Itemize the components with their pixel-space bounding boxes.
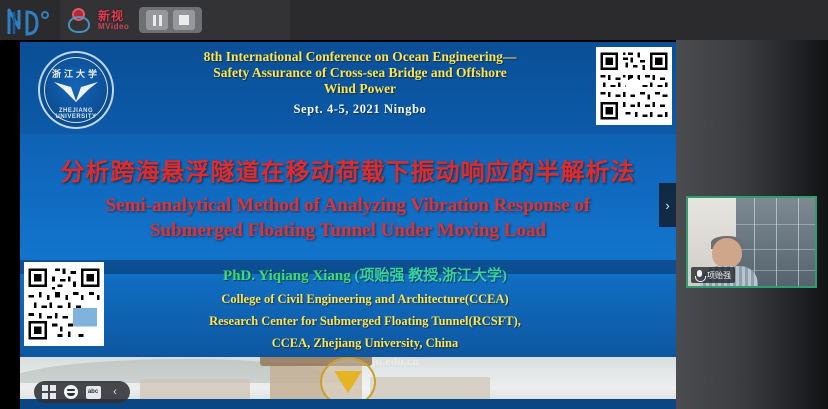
- recording-status-chinese: 新视: [98, 10, 129, 22]
- conference-date: Sept. 4-5, 2021 Ningbo: [130, 102, 590, 117]
- video-rail: 项贻强: [676, 0, 828, 409]
- slide-title-english: Semi-analytical Method of Analyzing Vibr…: [20, 193, 676, 243]
- grid-view-icon: [42, 385, 56, 399]
- meeting-screen-share-window: 浙江大学 ZHEJIANG UNIVERSITY 8th Internation…: [0, 0, 828, 409]
- gallery-view-button[interactable]: [40, 384, 58, 400]
- smiley-face-icon: [64, 385, 78, 399]
- mvideo-n-logo-icon: [2, 2, 60, 40]
- floating-toolbar: abc ‹: [34, 381, 130, 403]
- qr-code-icon-top: [596, 47, 672, 125]
- conference-line-2: Safety Assurance of Cross-sea Bridge and…: [130, 65, 590, 81]
- slide-header-band: 浙江大学 ZHEJIANG UNIVERSITY 8th Internation…: [20, 42, 676, 134]
- zhejiang-university-seal-icon: 浙江大学 ZHEJIANG UNIVERSITY: [38, 51, 114, 129]
- conference-title: 8th International Conference on Ocean En…: [130, 49, 590, 117]
- conference-line-1: 8th International Conference on Ocean En…: [130, 49, 590, 65]
- participant-video-tile[interactable]: 项贻强: [686, 196, 817, 288]
- author-name-line: PhD. Yiqiang Xiang (项贻强 教授,浙江大学): [130, 264, 600, 285]
- affiliation-line-2: Research Center for Submerged Floating T…: [130, 313, 600, 329]
- recording-topbar: 新视 MVideo: [0, 0, 828, 40]
- record-swirl: [68, 16, 90, 33]
- affiliation-line-3: CCEA, Zhejiang University, China: [130, 335, 600, 351]
- qr-code-icon-bottom: [24, 262, 104, 346]
- slide-title-english-line-1: Semi-analytical Method of Analyzing Vibr…: [20, 193, 676, 218]
- microphone-icon: [695, 270, 704, 281]
- annotate-button[interactable]: abc: [84, 384, 102, 400]
- author-block: PhD. Yiqiang Xiang (项贻强 教授,浙江大学) College…: [130, 264, 600, 369]
- emblem-triangle: [334, 371, 362, 393]
- participant-name: 项贻强: [707, 270, 731, 281]
- participant-face: [712, 238, 742, 268]
- previous-button[interactable]: ‹: [106, 384, 124, 400]
- participant-name-badge: 项贻强: [691, 267, 735, 283]
- record-dot-icon: [66, 5, 96, 35]
- chevron-left-icon: ‹: [113, 386, 117, 398]
- reaction-button[interactable]: [62, 384, 80, 400]
- recording-controls: [139, 7, 202, 33]
- recording-indicator-group: 新视 MVideo: [60, 0, 290, 40]
- collapse-panel-chevron-icon[interactable]: ›: [659, 183, 676, 227]
- seal-bird-icon: [53, 76, 99, 102]
- annotate-icon: abc: [86, 386, 101, 399]
- slide-title-block: 分析跨海悬浮隧道在移动荷载下振动响应的半解析法 Semi-analytical …: [20, 152, 676, 243]
- conference-line-3: Wind Power: [130, 81, 590, 97]
- author-name-chinese: (项贻强 教授,浙江大学): [354, 268, 507, 284]
- pause-recording-button[interactable]: [146, 10, 168, 30]
- shared-screen-stage: 浙江大学 ZHEJIANG UNIVERSITY 8th Internation…: [0, 0, 676, 409]
- presentation-slide: 浙江大学 ZHEJIANG UNIVERSITY 8th Internation…: [20, 42, 676, 409]
- seal-english-label: ZHEJIANG UNIVERSITY: [40, 108, 112, 120]
- stop-recording-button[interactable]: [173, 10, 195, 30]
- affiliation-line-1: College of Civil Engineering and Archite…: [130, 291, 600, 307]
- slide-title-english-line-2: Submerged Floating Tunnel Under Moving L…: [20, 218, 676, 243]
- slide-title-chinese: 分析跨海悬浮隧道在移动荷载下振动响应的半解析法: [20, 152, 676, 187]
- recording-brand-text: 新视 MVideo: [98, 10, 129, 31]
- recording-brand-english: MVideo: [98, 23, 129, 31]
- author-name-english: PhD. Yiqiang Xiang: [223, 268, 354, 284]
